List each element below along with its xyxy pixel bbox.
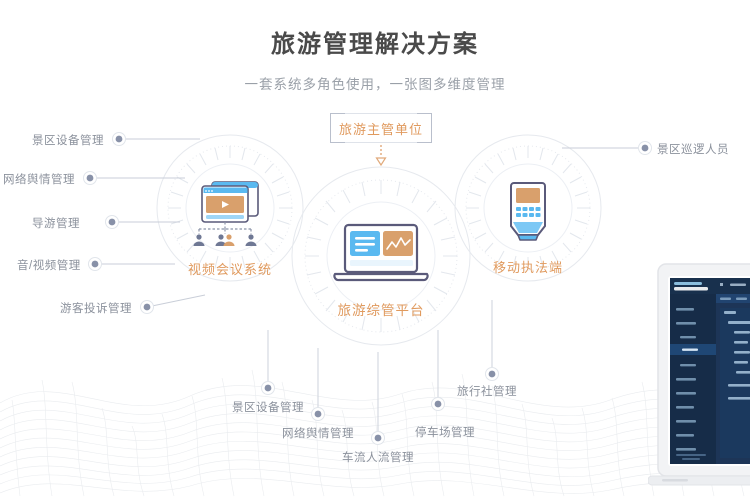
label-left-3[interactable]: 音/视频管理	[17, 257, 81, 273]
corner-bracket-bottom-right	[417, 128, 432, 143]
label-left-0[interactable]: 景区设备管理	[32, 132, 104, 148]
node-label-platform: 旅游综管平台	[317, 299, 445, 319]
label-bottom-0[interactable]: 景区设备管理	[232, 399, 304, 415]
label-bottom-4[interactable]: 旅行社管理	[457, 383, 517, 399]
corner-bracket-top-right	[417, 113, 432, 128]
laptop-mockup	[648, 258, 750, 498]
video-conference-icon	[182, 176, 278, 248]
page-subtitle: 一套系统多角色使用，一张图多维度管理	[0, 73, 750, 93]
box-edge-top	[345, 113, 417, 114]
authority-box[interactable]: 旅游主管单位	[331, 114, 431, 142]
label-right-0[interactable]: 景区巡逻人员	[657, 141, 729, 157]
label-left-1[interactable]: 网络舆情管理	[3, 171, 75, 187]
label-bottom-1[interactable]: 网络舆情管理	[282, 425, 354, 441]
authority-label: 旅游主管单位	[339, 119, 423, 138]
label-left-4[interactable]: 游客投诉管理	[60, 300, 132, 316]
page-title: 旅游管理解决方案	[0, 24, 750, 59]
box-edge-bottom	[345, 142, 417, 143]
solution-diagram-page: 旅游管理解决方案 一套系统多角色使用，一张图多维度管理	[0, 0, 750, 498]
label-bottom-2[interactable]: 车流人流管理	[342, 449, 414, 465]
down-arrow-icon	[373, 145, 389, 167]
node-mobile-enforcement[interactable]: 移动执法端	[464, 180, 592, 276]
node-label-mobile-enforcement: 移动执法端	[464, 257, 592, 276]
corner-bracket-top-left	[330, 113, 345, 128]
node-label-video-conference: 视频会议系统	[166, 259, 294, 278]
background-mesh	[0, 308, 750, 498]
node-video-conference[interactable]: 视频会议系统	[166, 176, 294, 278]
laptop-platform-icon	[326, 222, 436, 288]
mobile-enforcement-icon	[500, 180, 556, 246]
corner-bracket-bottom-left	[330, 128, 345, 143]
label-bottom-3[interactable]: 停车场管理	[415, 424, 475, 440]
page-header: 旅游管理解决方案 一套系统多角色使用，一张图多维度管理	[0, 0, 750, 93]
node-platform[interactable]: 旅游综管平台	[317, 222, 445, 319]
label-left-2[interactable]: 导游管理	[32, 215, 80, 231]
